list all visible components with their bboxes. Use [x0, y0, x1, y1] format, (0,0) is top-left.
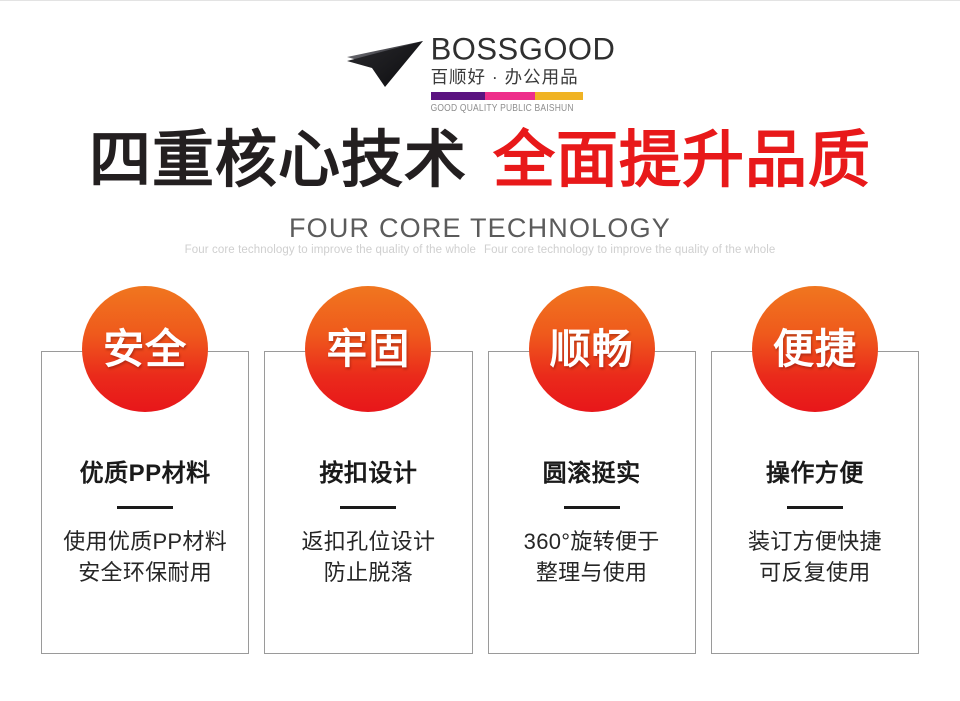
feature-badge-label: 便捷: [773, 329, 857, 370]
feature-card-desc-line2: 整理与使用: [488, 558, 696, 588]
feature-card-description: 装订方便快捷 可反复使用: [711, 527, 919, 588]
feature-card-title: 优质PP材料: [41, 461, 249, 487]
feature-card: 顺畅 圆滚挺实 360°旋转便于 整理与使用: [488, 286, 696, 654]
feature-card-divider: [787, 506, 843, 509]
brand-logo-text: BOSSGOOD 百顺好 · 办公用品 GOOD QUALITY PUBLIC …: [431, 31, 616, 112]
feature-card-title: 操作方便: [711, 461, 919, 487]
page-title-red: 全面提升品质: [493, 126, 871, 195]
brand-logo-inner: BOSSGOOD 百顺好 · 办公用品 GOOD QUALITY PUBLIC …: [345, 31, 616, 112]
subtitle-tagline-part1: Four core technology to improve the qual…: [185, 244, 476, 256]
feature-badge: 顺畅: [529, 286, 655, 412]
feature-card-description: 360°旋转便于 整理与使用: [488, 527, 696, 588]
feature-card-desc-line1: 使用优质PP材料: [41, 527, 249, 557]
brand-bar-gold: [535, 92, 582, 100]
feature-badge-label: 牢固: [326, 329, 410, 370]
brand-chinese-name: 百顺好 · 办公用品: [431, 67, 616, 89]
subtitle-tagline-part2: Four core technology to improve the qual…: [484, 244, 775, 256]
feature-card-desc-line2: 可反复使用: [711, 558, 919, 588]
feature-card-desc-line1: 360°旋转便于: [488, 527, 696, 557]
feature-card-description: 返扣孔位设计 防止脱落: [264, 527, 472, 588]
brand-color-bars: [431, 92, 583, 100]
feature-card-desc-line1: 返扣孔位设计: [264, 527, 472, 557]
brand-slogan: GOOD QUALITY PUBLIC BAISHUN: [431, 102, 616, 114]
subtitle-english: FOUR CORE TECHNOLOGY: [0, 214, 960, 244]
feature-card-description: 使用优质PP材料 安全环保耐用: [41, 527, 249, 588]
page-title: 四重核心技术全面提升品质: [0, 127, 960, 195]
feature-card: 安全 优质PP材料 使用优质PP材料 安全环保耐用: [41, 286, 249, 654]
brand-bar-magenta: [485, 92, 535, 100]
feature-card-desc-line1: 装订方便快捷: [711, 527, 919, 557]
feature-badge-label: 顺畅: [550, 329, 634, 370]
subtitle-tagline: Four core technology to improve the qual…: [0, 244, 960, 256]
feature-card-title: 按扣设计: [264, 461, 472, 487]
feature-card-divider: [117, 506, 173, 509]
brand-bar-purple: [431, 92, 486, 100]
paper-plane-icon: [345, 35, 425, 93]
feature-card-content: 圆滚挺实 360°旋转便于 整理与使用: [488, 461, 696, 588]
feature-card-title: 圆滚挺实: [488, 461, 696, 487]
feature-card-content: 按扣设计 返扣孔位设计 防止脱落: [264, 461, 472, 588]
feature-badge: 安全: [82, 286, 208, 412]
feature-badge-label: 安全: [103, 329, 187, 370]
feature-card-content: 操作方便 装订方便快捷 可反复使用: [711, 461, 919, 588]
feature-card-content: 优质PP材料 使用优质PP材料 安全环保耐用: [41, 461, 249, 588]
feature-badge: 牢固: [305, 286, 431, 412]
brand-wordmark: BOSSGOOD: [431, 33, 616, 65]
feature-card: 便捷 操作方便 装订方便快捷 可反复使用: [711, 286, 919, 654]
page-title-dark: 四重核心技术: [89, 126, 467, 195]
feature-badge: 便捷: [752, 286, 878, 412]
feature-card-divider: [340, 506, 396, 509]
feature-card-desc-line2: 防止脱落: [264, 558, 472, 588]
feature-card-desc-line2: 安全环保耐用: [41, 558, 249, 588]
feature-card-divider: [564, 506, 620, 509]
brand-logo: BOSSGOOD 百顺好 · 办公用品 GOOD QUALITY PUBLIC …: [0, 31, 960, 112]
feature-card-list: 安全 优质PP材料 使用优质PP材料 安全环保耐用 牢固 按扣设计 返扣孔位设计: [41, 286, 919, 654]
feature-card: 牢固 按扣设计 返扣孔位设计 防止脱落: [264, 286, 472, 654]
promo-banner: BOSSGOOD 百顺好 · 办公用品 GOOD QUALITY PUBLIC …: [0, 0, 960, 701]
